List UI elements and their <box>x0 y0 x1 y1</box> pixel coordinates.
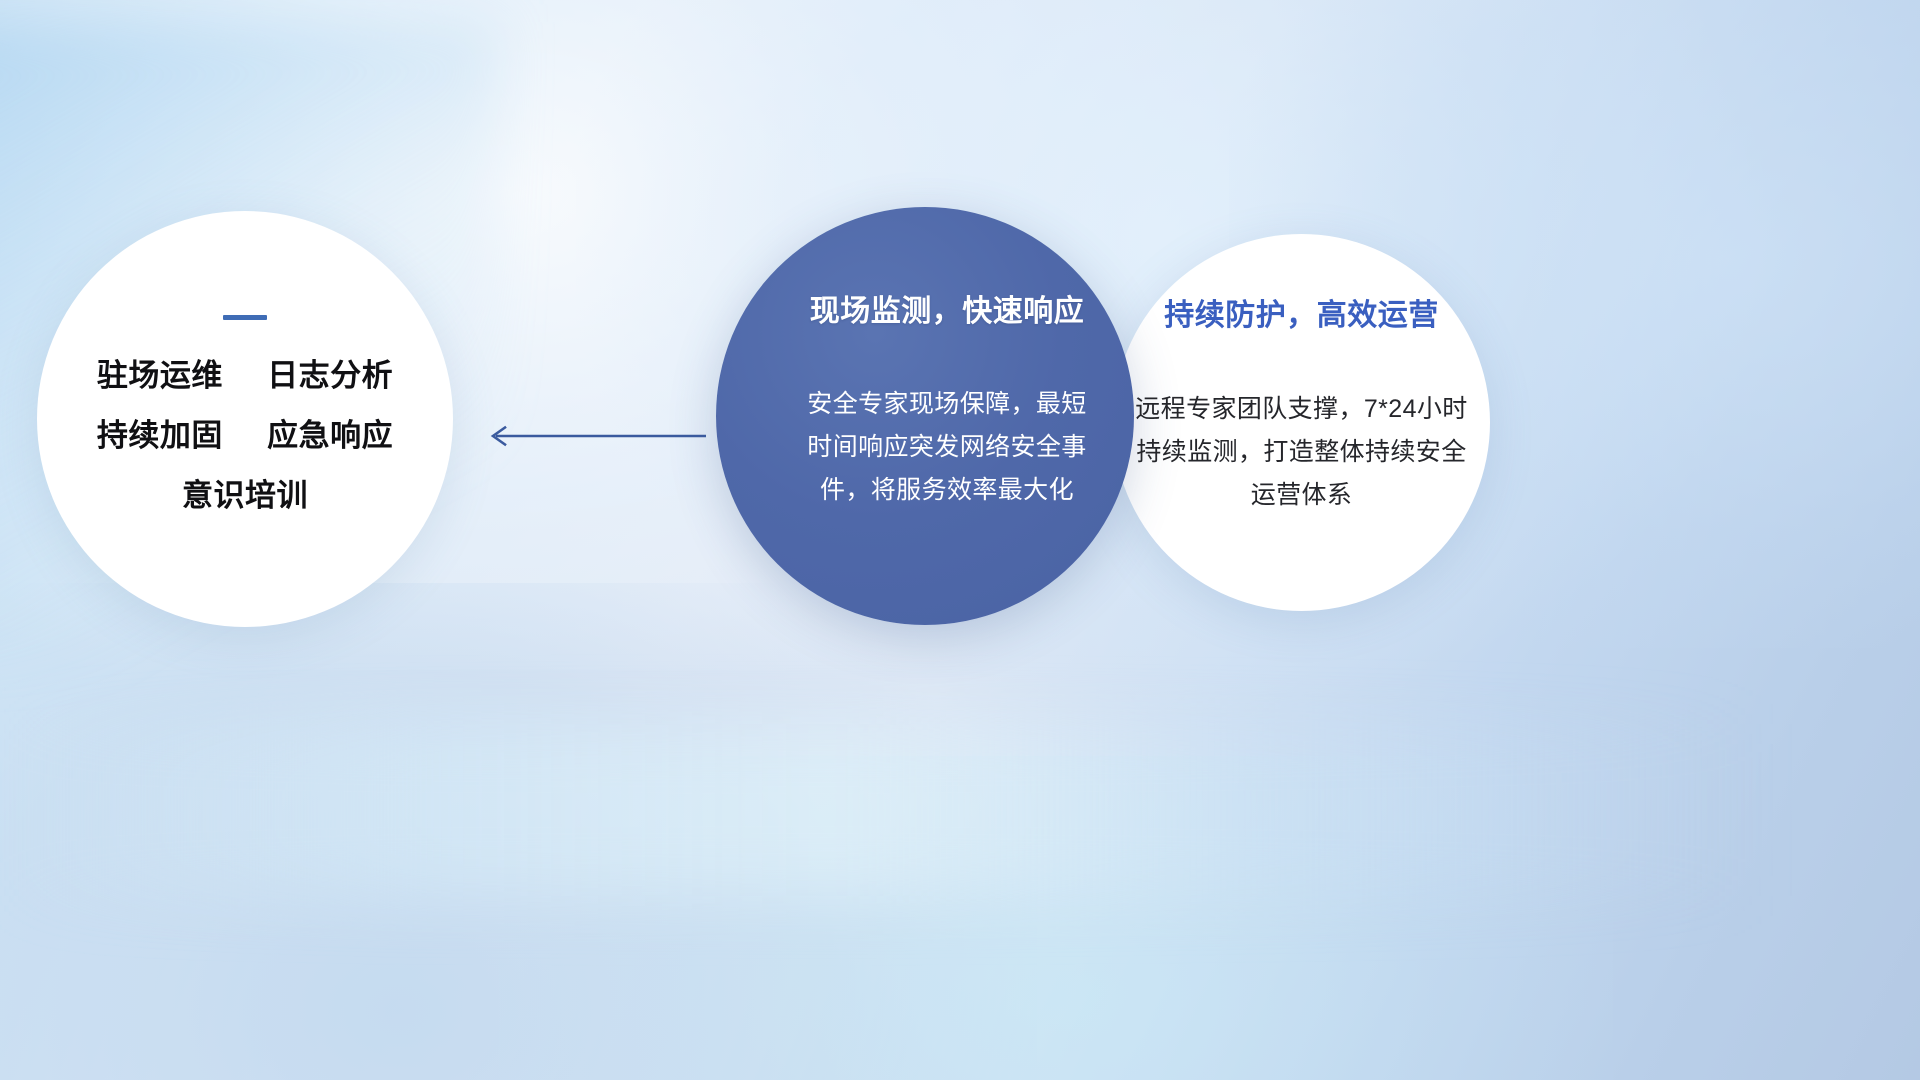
divider-dash <box>223 315 267 320</box>
right-circle-body: 远程专家团队支撑，7*24小时持续监测，打造整体持续安全运营体系 <box>1126 388 1478 517</box>
flow-arrow <box>480 424 708 453</box>
left-tag-chixu-jiagu: 持续加固 <box>97 418 223 453</box>
left-tag-yishi-peixun: 意识培训 <box>182 478 308 513</box>
left-circle-line-1: 驻场运维 日志分析 <box>97 360 393 391</box>
left-circle-line-3: 意识培训 <box>182 480 308 511</box>
middle-circle-title: 现场监测，快速响应 <box>810 297 1085 327</box>
left-tag-yingji-xiangying: 应急响应 <box>267 418 393 453</box>
right-circle-content: 持续防护，高效运营 远程专家团队支撑，7*24小时持续监测，打造整体持续安全运营… <box>1113 234 1490 611</box>
arrow-left-icon <box>480 424 708 448</box>
left-tag-zhuchang-yunwei: 驻场运维 <box>97 358 223 393</box>
middle-circle-content: 现场监测，快速响应 安全专家现场保障，最短时间响应突发网络安全事件，将服务效率最… <box>716 207 1134 625</box>
background-light-band <box>0 724 1920 897</box>
left-circle-line-2: 持续加固 应急响应 <box>97 420 393 451</box>
left-circle-content: 驻场运维 日志分析 持续加固 应急响应 意识培训 <box>37 211 453 627</box>
right-circle-title: 持续防护，高效运营 <box>1164 301 1439 331</box>
middle-circle-body: 安全专家现场保障，最短时间响应突发网络安全事件，将服务效率最大化 <box>797 383 1097 512</box>
left-tag-rizhi-fenxi: 日志分析 <box>267 358 393 393</box>
